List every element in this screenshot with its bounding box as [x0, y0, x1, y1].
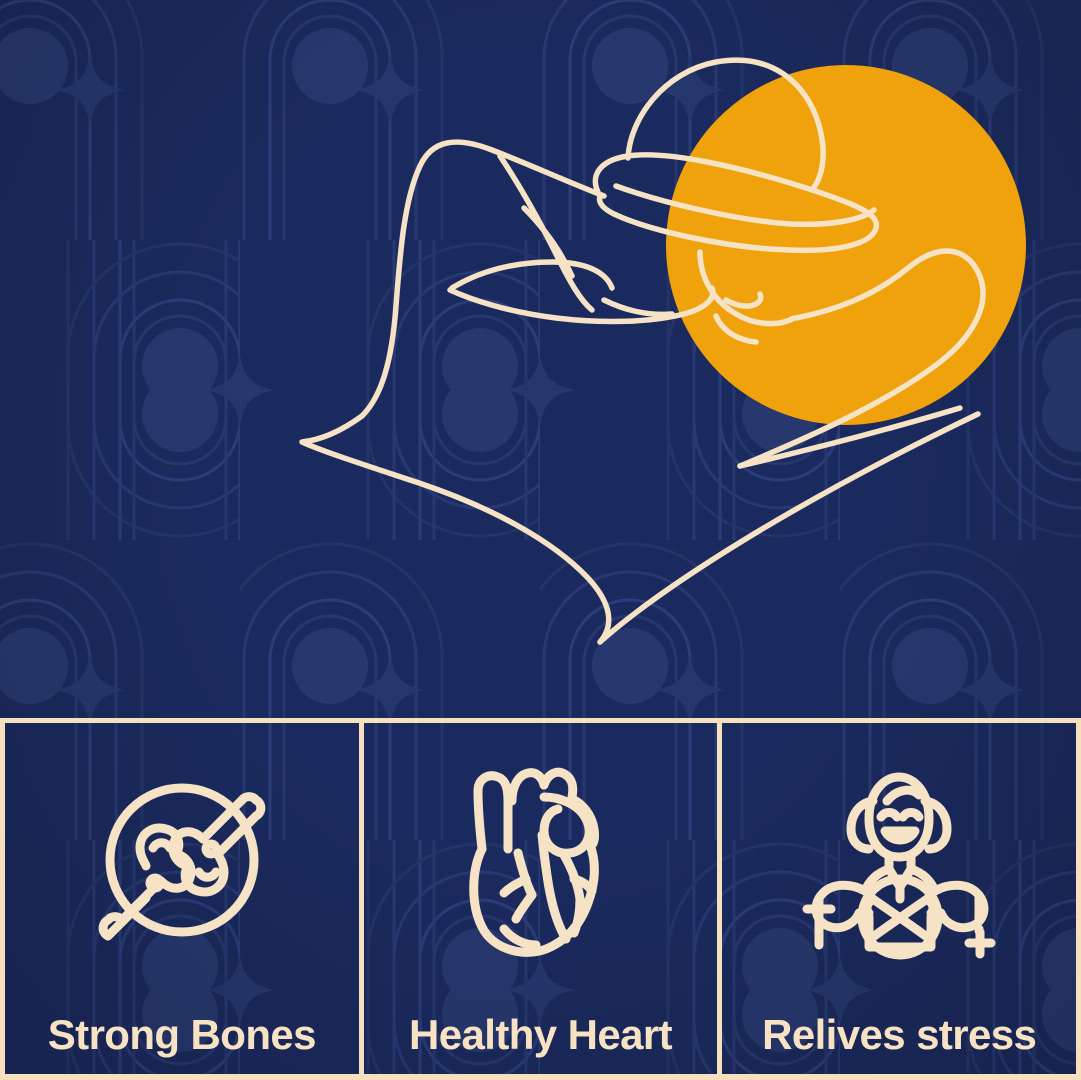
poster-root: Strong Bones — [0, 0, 1081, 1080]
anatomical-heart-icon — [446, 757, 636, 962]
benefit-label-strong-bones: Strong Bones — [5, 1014, 359, 1056]
hero-illustration — [0, 0, 1081, 722]
benefit-label-healthy-heart: Healthy Heart — [364, 1014, 718, 1056]
benefit-label-relives-stress: Relives stress — [722, 1014, 1076, 1056]
relaxed-person-icon — [799, 757, 999, 962]
benefit-panel-relives-stress[interactable]: Relives stress — [717, 723, 1076, 1074]
benefit-panel-healthy-heart[interactable]: Healthy Heart — [359, 723, 718, 1074]
benefits-strip: Strong Bones — [0, 718, 1081, 1080]
bone-joint-icon — [82, 757, 282, 962]
benefit-panel-strong-bones[interactable]: Strong Bones — [5, 723, 359, 1074]
